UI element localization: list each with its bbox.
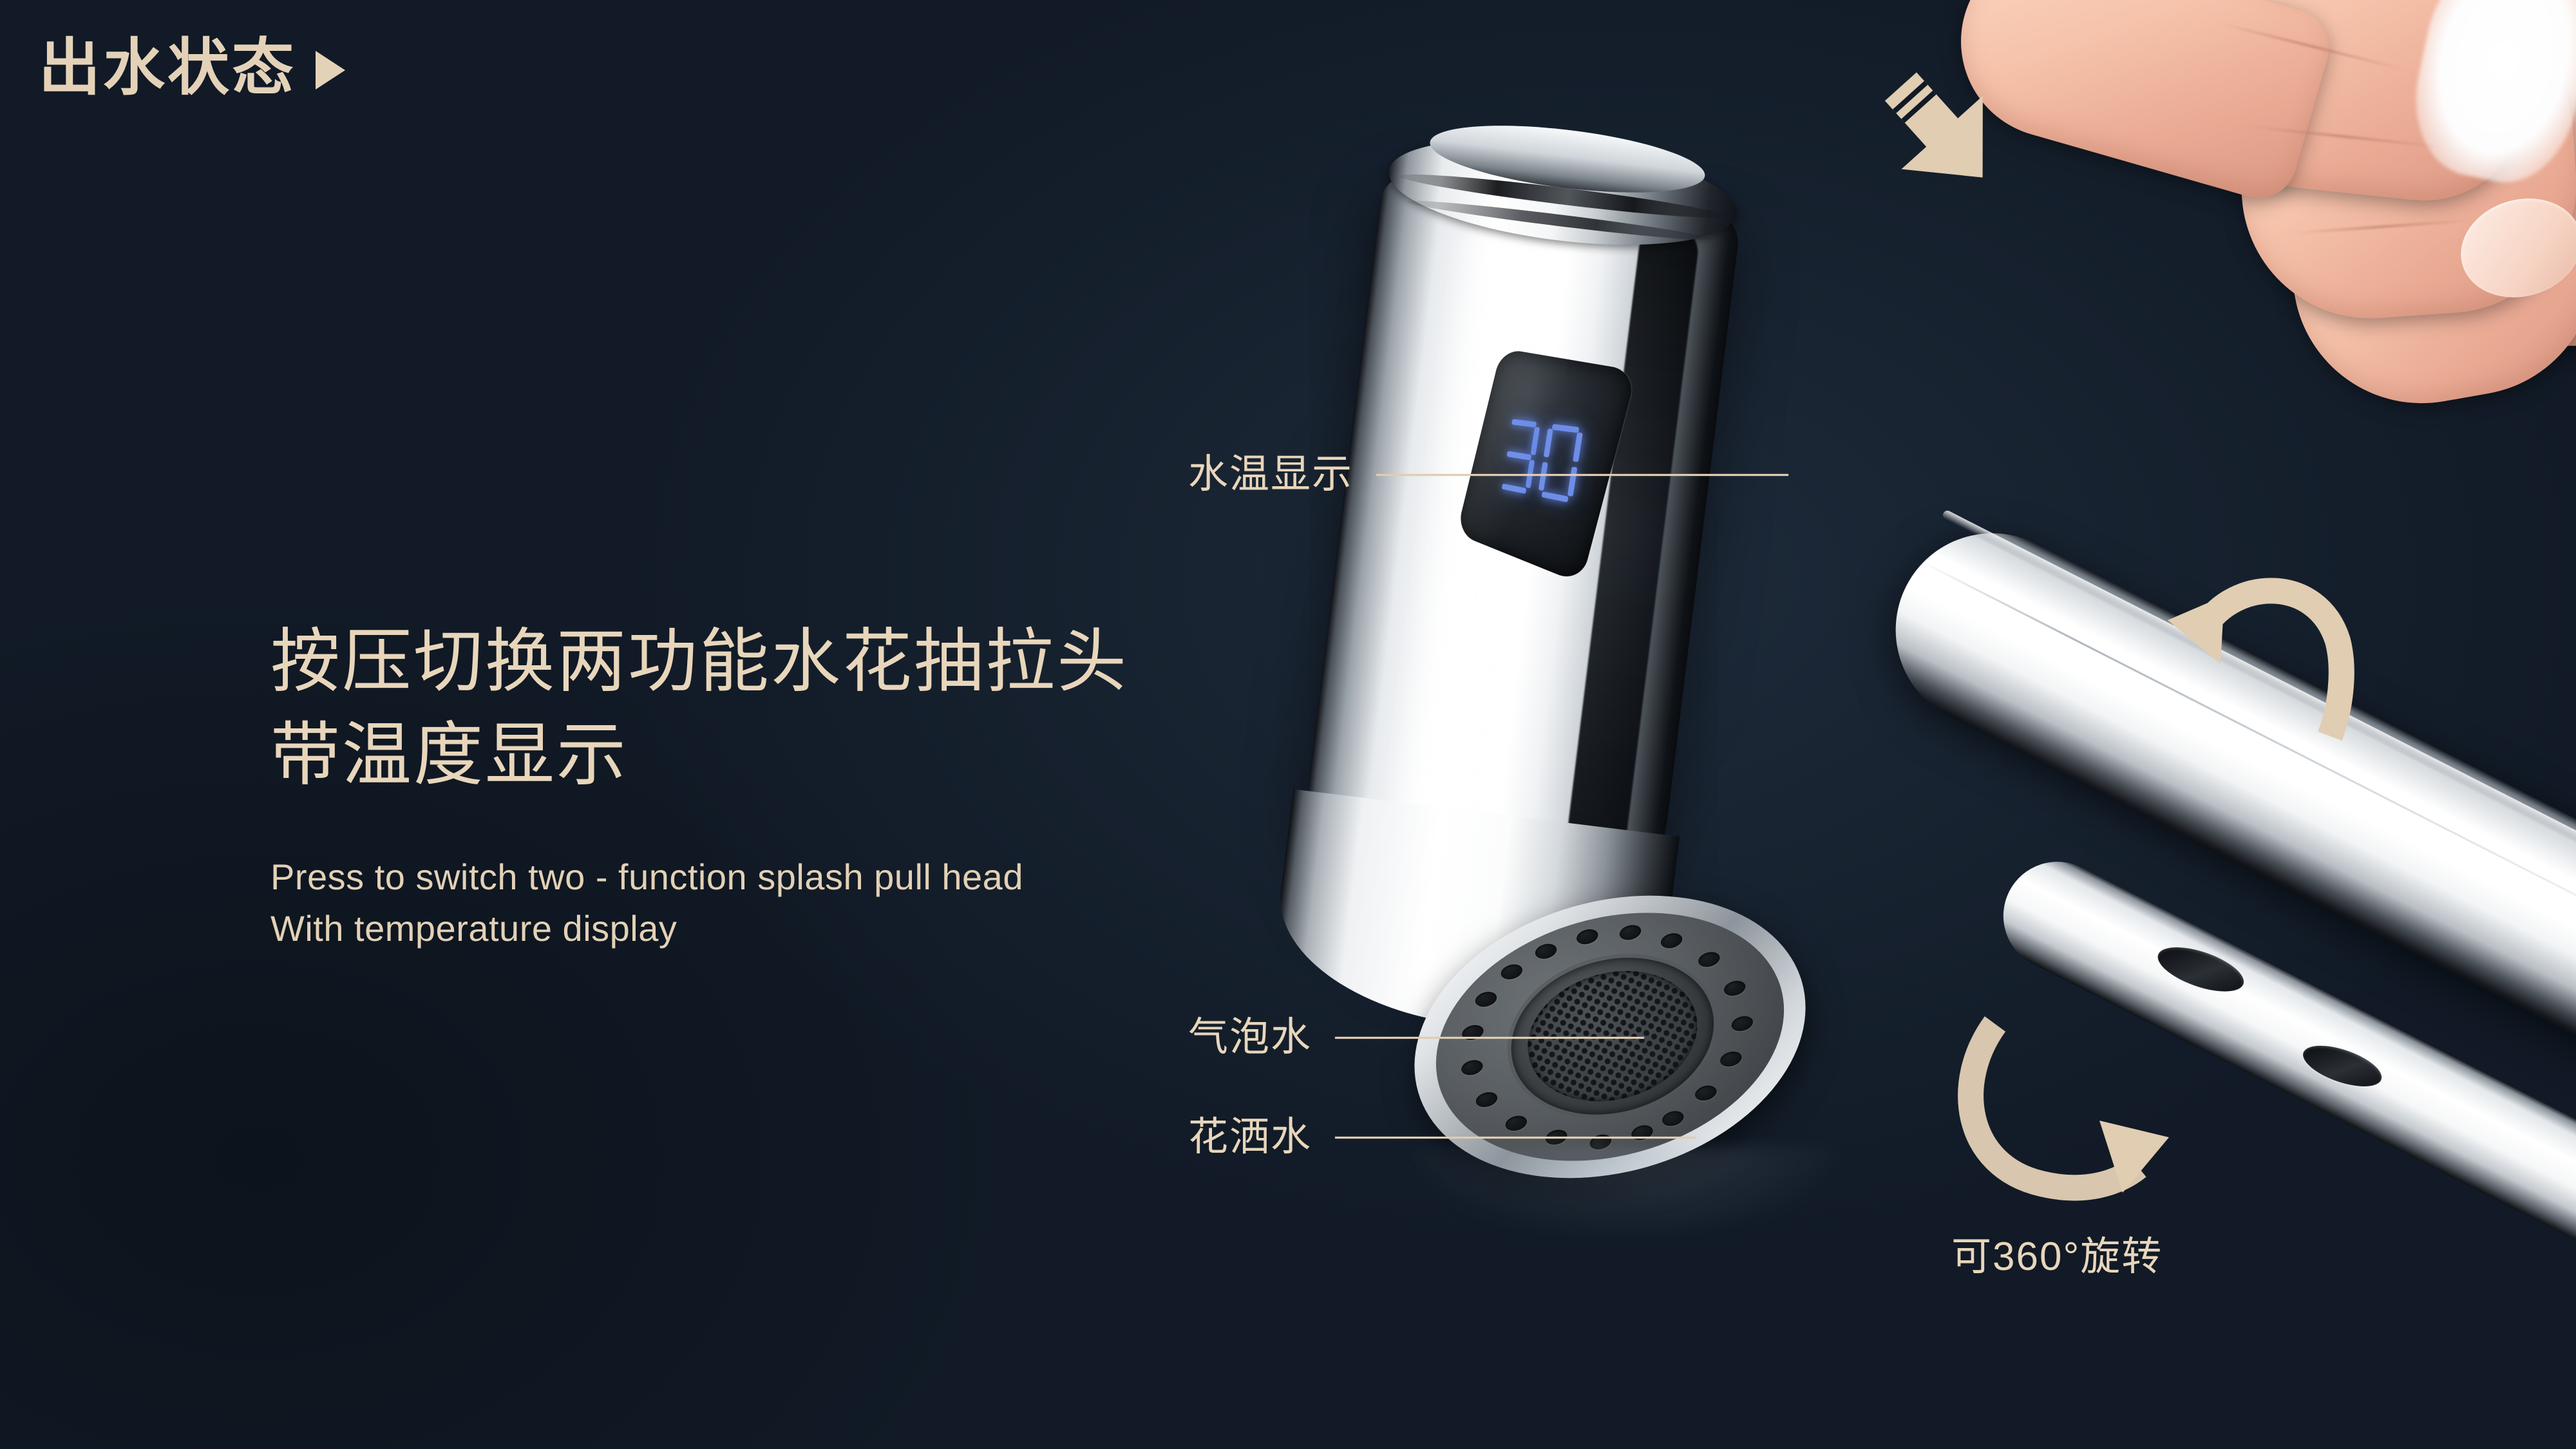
callout-shower-water: 花洒水 [1188,1117,1696,1157]
callout-water-temperature: 水温显示 [1188,455,1788,495]
callout-label: 水温显示 [1188,455,1353,495]
product-feature-slide: 出水状态 按压切换两功能水花抽拉头 带温度显示 Press to switch … [0,0,2576,1449]
aerator-engraving: MAX 65°C / 0.8MPa [1691,1072,1790,1141]
callout-bubble-water: 气泡水 [1188,1018,1644,1057]
leader-line [1335,1037,1644,1039]
pipe-slot-icon [2152,938,2249,1001]
hand-pressing-icon [1971,0,2576,399]
leader-line [1376,474,1788,476]
rotate-counterclockwise-arrow-icon [2145,551,2363,763]
pipe-slot-icon [2298,1037,2387,1095]
rotation-label: 可360°旋转 [1951,1224,2163,1282]
callout-label: 花洒水 [1188,1117,1312,1157]
finger-index [1938,0,2338,207]
product-reflection [1391,1146,1855,1243]
leader-line [1335,1137,1696,1139]
faucet-pull-head[interactable] [1285,126,1747,1020]
rotate-clockwise-arrow-icon [1945,1005,2228,1217]
product-photo: MAX 65°C / 0.8MPa [0,0,2576,1449]
callout-label: 气泡水 [1188,1018,1312,1057]
